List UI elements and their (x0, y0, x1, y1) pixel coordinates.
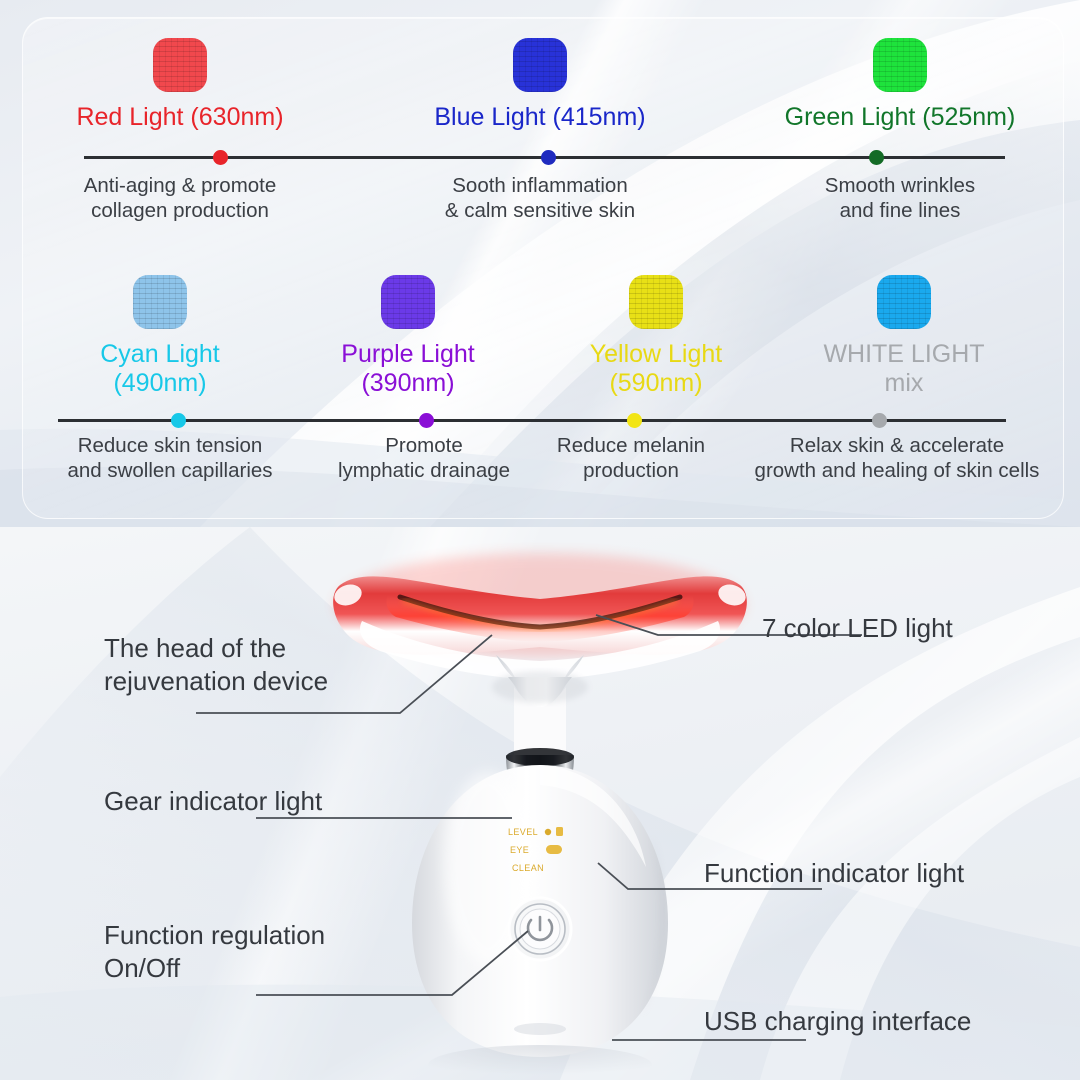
green-light-desc: Smooth wrinkles and fine lines (825, 173, 975, 223)
callout-usb-charging-text: USB charging interface (704, 1005, 971, 1038)
blue-light-title: Blue Light (415nm) (434, 103, 645, 132)
purple-light-title: Purple Light (341, 340, 474, 369)
green-light-title: Green Light (525nm) (785, 103, 1016, 132)
light-item-red: Red Light (630nm) (0, 38, 360, 132)
blue-light-desc: Sooth inflammation & calm sensitive skin (445, 173, 635, 223)
callout-function-regulation: Function regulation On/Off (104, 919, 325, 985)
callout-led-light: 7 color LED light (762, 612, 953, 645)
device-illustration: LEVEL EYE CLEAN (300, 537, 780, 1080)
cyan-light-title: Cyan Light (100, 340, 220, 369)
light-item-cyan: Cyan Light (490nm) (36, 275, 284, 398)
light-item-purple: Purple Light (390nm) (284, 275, 532, 398)
light-row-1: Red Light (630nm) Blue Light (415nm) Gre… (0, 38, 1080, 132)
svg-text:LEVEL: LEVEL (508, 827, 538, 837)
callout-function-indicator-text: Function indicator light (704, 857, 964, 890)
purple-light-desc: Promote lymphatic drainage (300, 433, 548, 483)
red-light-dot (213, 150, 228, 165)
yellow-light-dot (627, 413, 642, 428)
white-light-desc: Relax skin & accelerate growth and heali… (730, 433, 1064, 483)
light-item-white: WHITE LIGHT mix (780, 275, 1028, 398)
yellow-light-title: Yellow Light (590, 340, 723, 369)
callout-function-indicator: Function indicator light (704, 857, 964, 890)
light-item-blue: Blue Light (415nm) (360, 38, 720, 132)
cyan-light-swatch (133, 275, 187, 329)
yellow-light-subtitle: (590nm) (609, 369, 702, 398)
callout-device-head: The head of the rejuvenation device (104, 632, 328, 698)
device-diagram-panel: LEVEL EYE CLEAN (0, 527, 1080, 1080)
divider-row-2 (0, 413, 1080, 427)
green-light-swatch (873, 38, 927, 92)
red-light-swatch (153, 38, 207, 92)
cyan-light-dot (171, 413, 186, 428)
product-infographic: Red Light (630nm) Blue Light (415nm) Gre… (0, 0, 1080, 1080)
yellow-light-swatch (629, 275, 683, 329)
light-modes-panel: Red Light (630nm) Blue Light (415nm) Gre… (0, 0, 1080, 527)
svg-text:EYE: EYE (510, 845, 529, 855)
white-light-swatch (877, 275, 931, 329)
light-item-green: Green Light (525nm) (720, 38, 1080, 132)
blue-light-dot (541, 150, 556, 165)
white-light-title: WHITE LIGHT (823, 340, 984, 369)
callout-usb-charging: USB charging interface (704, 1005, 971, 1038)
yellow-light-desc: Reduce melanin production (520, 433, 742, 483)
cyan-light-desc: Reduce skin tension and swollen capillar… (36, 433, 304, 483)
callout-gear-indicator: Gear indicator light (104, 785, 322, 818)
callout-gear-indicator-text: Gear indicator light (104, 785, 322, 818)
red-light-desc: Anti-aging & promote collagen production (84, 173, 277, 223)
light-item-yellow: Yellow Light (590nm) (532, 275, 780, 398)
purple-light-subtitle: (390nm) (361, 369, 454, 398)
svg-text:CLEAN: CLEAN (512, 863, 544, 873)
green-light-dot (869, 150, 884, 165)
callout-led-light-text: 7 color LED light (762, 612, 953, 645)
power-button[interactable] (509, 898, 571, 960)
callout-function-regulation-text: Function regulation On/Off (104, 919, 325, 985)
light-row-2: Cyan Light (490nm) Purple Light (390nm) … (0, 275, 1080, 398)
white-light-dot (872, 413, 887, 428)
blue-light-swatch (513, 38, 567, 92)
white-light-subtitle: mix (885, 369, 924, 398)
red-light-title: Red Light (630nm) (76, 103, 283, 132)
callout-device-head-text: The head of the rejuvenation device (104, 632, 328, 698)
cyan-light-subtitle: (490nm) (113, 369, 206, 398)
purple-light-dot (419, 413, 434, 428)
purple-light-swatch (381, 275, 435, 329)
divider-row-1 (0, 150, 1080, 164)
